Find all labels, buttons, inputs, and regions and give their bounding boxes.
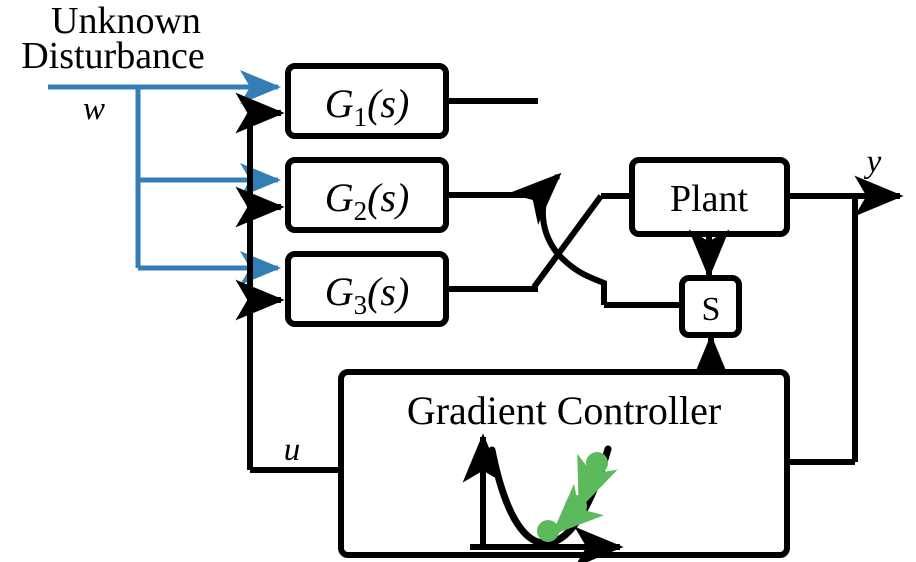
disturbance-signal-label: w	[83, 91, 105, 127]
transfer-block-g1-label: G1(s)	[325, 81, 410, 132]
plant-block[interactable]: Plant	[632, 160, 787, 234]
gradient-controller-label: Gradient Controller	[407, 388, 721, 433]
control-signal-label: u	[284, 432, 301, 468]
output-signal-label: y	[864, 144, 882, 180]
plant-block-label: Plant	[670, 178, 749, 220]
switch-rotation-arc[interactable]	[543, 176, 558, 253]
inset-iterate-dot-2	[565, 495, 587, 517]
g3-arg: (s)	[367, 269, 409, 314]
sensor-block[interactable]: S	[682, 278, 739, 335]
block-diagram-svg: Unknown Disturbance w u G1(s)	[0, 0, 916, 562]
inset-iterate-dot-1	[586, 452, 608, 474]
gradient-controller-block[interactable]: Gradient Controller	[341, 372, 787, 555]
g1-sub: 1	[354, 102, 368, 132]
g1-arg: (s)	[367, 81, 409, 126]
g3-main: G	[325, 269, 354, 314]
transfer-block-g3-label: G3(s)	[325, 269, 410, 320]
g2-arg: (s)	[367, 175, 409, 220]
sensor-block-label: S	[702, 291, 721, 328]
switch-lower-branch	[557, 253, 604, 305]
inset-iterate-dot-3	[537, 520, 559, 542]
output-feedback-wiring	[787, 196, 855, 462]
transfer-block-g2[interactable]: G2(s)	[288, 160, 446, 230]
transfer-block-g3[interactable]: G3(s)	[288, 254, 446, 324]
g3-sub: 3	[354, 290, 368, 320]
block-diagram-canvas: Unknown Disturbance w u G1(s)	[0, 0, 916, 562]
g2-main: G	[325, 175, 354, 220]
transfer-block-g2-label: G2(s)	[325, 175, 410, 226]
disturbance-title-line2: Disturbance	[21, 35, 205, 77]
g1-main: G	[325, 81, 354, 126]
transfer-block-g1[interactable]: G1(s)	[288, 66, 446, 136]
g2-sub: 2	[354, 196, 368, 226]
